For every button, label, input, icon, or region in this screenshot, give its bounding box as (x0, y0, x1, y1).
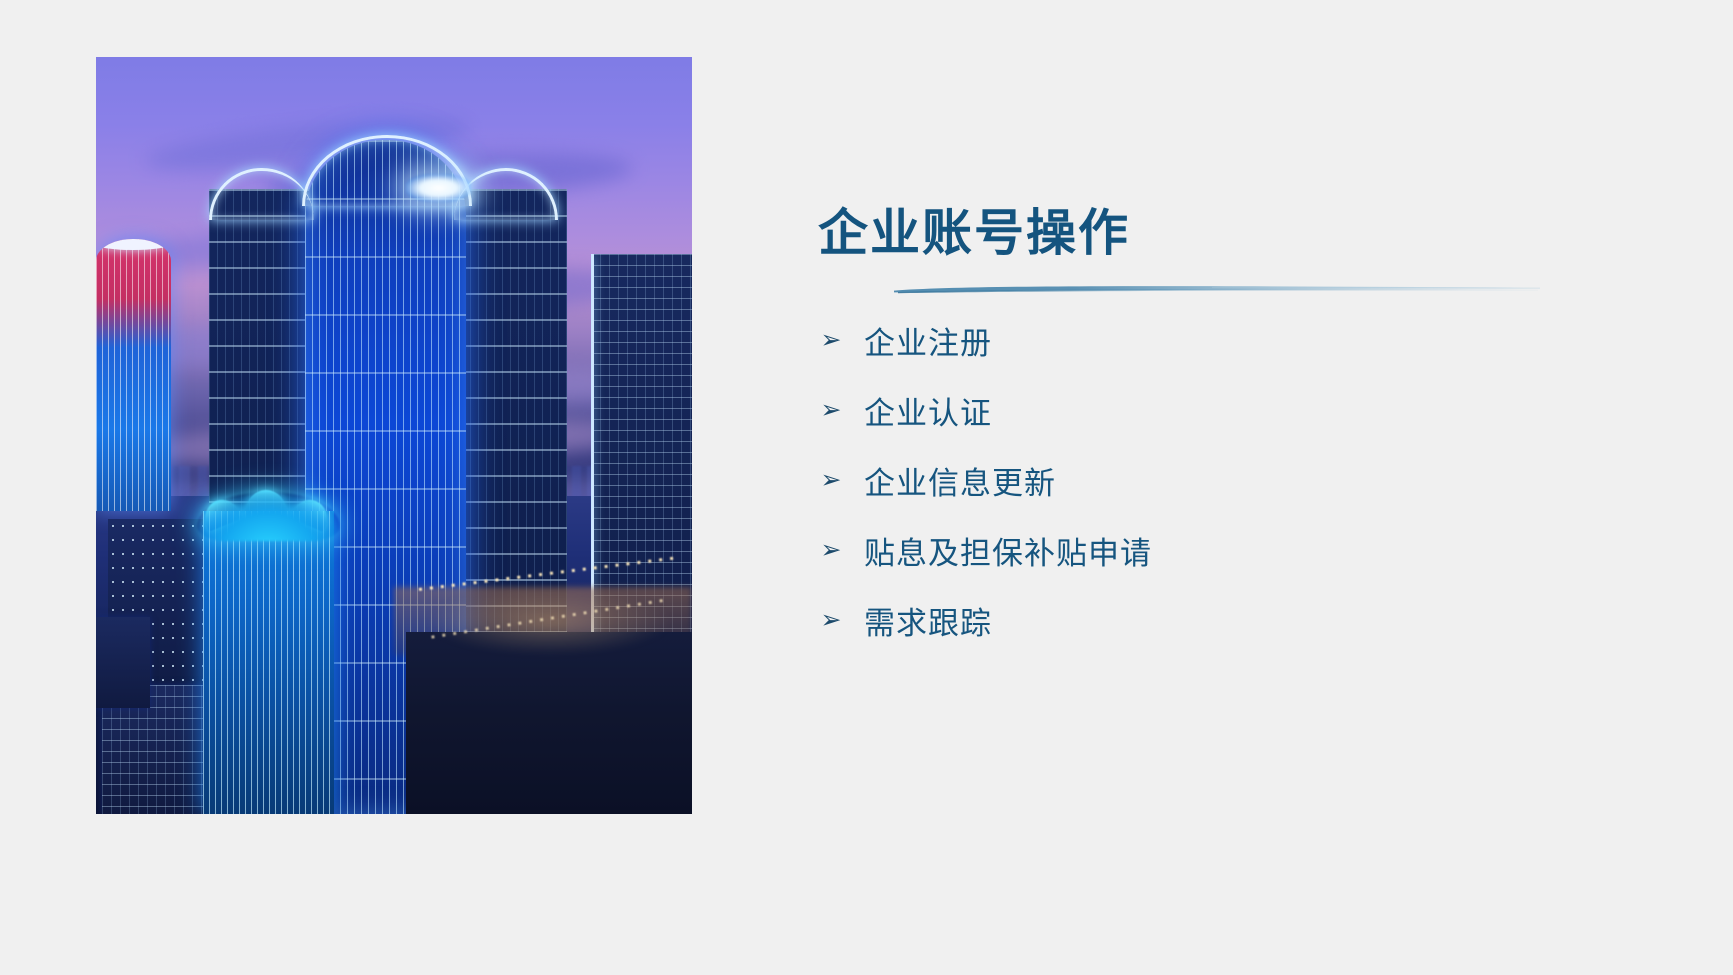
bullet-label: 需求跟踪 (864, 598, 992, 643)
page-title: 企业账号操作 (818, 203, 1130, 263)
list-item[interactable]: ➢ 企业信息更新 (818, 445, 1618, 515)
bullet-label: 企业认证 (864, 388, 992, 433)
lotus-crown-tower (203, 511, 334, 814)
tower-highlight-light (406, 174, 472, 201)
cylinder-tower (96, 239, 171, 512)
content-column: 企业账号操作 ➢ (818, 0, 1678, 975)
list-item[interactable]: ➢ 企业认证 (818, 375, 1618, 445)
photo-canvas (96, 57, 692, 814)
low-block-building (96, 617, 150, 708)
tower-cap-light (97, 239, 169, 250)
bullet-label: 贴息及担保补贴申请 (864, 528, 1152, 573)
river-water (406, 632, 692, 814)
tower-flutes (203, 511, 334, 814)
tower-flutes (96, 239, 171, 512)
arrow-bullet-icon: ➢ (818, 537, 844, 563)
cityscape-photo (96, 57, 692, 814)
arrow-bullet-icon: ➢ (818, 327, 844, 353)
bullet-label: 企业注册 (864, 318, 992, 363)
bullet-label: 企业信息更新 (864, 458, 1056, 503)
list-item[interactable]: ➢ 贴息及担保补贴申请 (818, 515, 1618, 585)
arrow-bullet-icon: ➢ (818, 397, 844, 423)
bullet-list: ➢ 企业注册 ➢ 企业认证 ➢ 企业信息更新 ➢ 贴息及担保补贴申请 ➢ 需求跟… (818, 305, 1618, 655)
arrow-bullet-icon: ➢ (818, 607, 844, 633)
slide-canvas: 企业账号操作 ➢ (0, 0, 1733, 975)
arrow-bullet-icon: ➢ (818, 467, 844, 493)
street-glow (424, 587, 674, 655)
list-item[interactable]: ➢ 企业注册 (818, 305, 1618, 375)
list-item[interactable]: ➢ 需求跟踪 (818, 585, 1618, 655)
title-underline-brushstroke (892, 283, 1542, 297)
